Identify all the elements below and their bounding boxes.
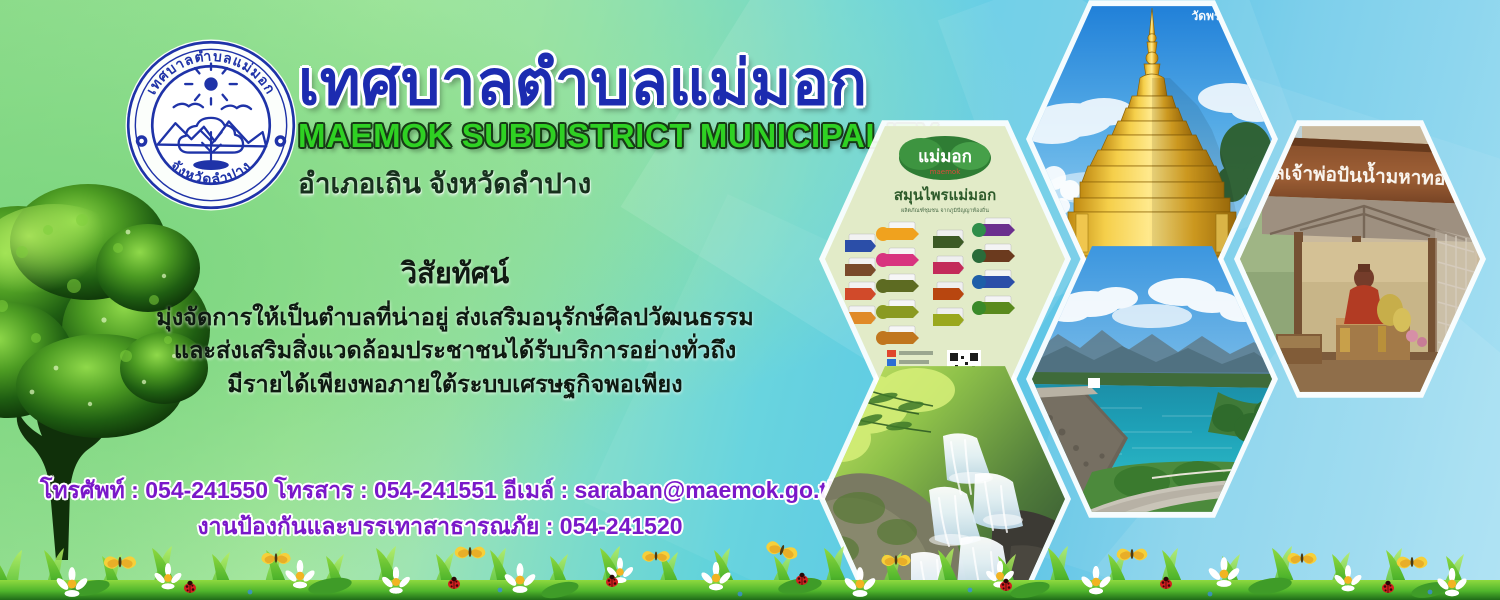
org-name-thai: เทศบาลตำบลแม่มอก [298,52,938,115]
seal-graphic: เทศบาลตำบลแม่มอก จังหวัดลำปาง [122,36,300,214]
location-subtitle: อำเภอเถิน จังหวัดลำปาง [298,162,938,206]
poster-caption: สมุนไพรแม่มอก [894,185,996,205]
pagoda-overlay-text: วัดพร [1192,9,1221,23]
municipality-banner: เทศบาลตำบลแม่มอก จังหวัดลำปาง เทศบาลตำบล… [0,0,1500,600]
grass-border [0,522,1500,600]
vision-statement: วิสัยทัศน์ มุ่งจัดการให้เป็นตำบลที่น่าอย… [60,250,850,401]
vision-line-2: และส่งเสริมสิ่งแวดล้อมประชาชนได้รับบริกา… [60,334,850,367]
poster-logo-text: แม่มอก [918,147,972,167]
hex-golden-pagoda[interactable]: วัดพร [1032,2,1272,276]
vision-heading: วิสัยทัศน์ [60,250,850,296]
municipality-seal: เทศบาลตำบลแม่มอก จังหวัดลำปาง [122,36,300,214]
title-block: เทศบาลตำบลแม่มอก MAEMOK SUBDISTRICT MUNI… [298,52,938,206]
hex-reservoir-dam[interactable] [1032,242,1272,516]
org-name-english: MAEMOK SUBDISTRICT MUNICIPALITY [298,117,938,155]
vision-line-3: มีรายได้เพียงพอภายใต้ระบบเศรษฐกิจพอเพียง [60,368,850,401]
svg-text:maemok: maemok [930,168,962,176]
vision-line-1: มุ่งจัดการให้เป็นตำบลที่น่าอยู่ ส่งเสริม… [60,301,850,334]
contact-line-primary[interactable]: โทรศัพท์ : 054-241550 โทรสาร : 054-24155… [40,474,840,507]
hex-shrine[interactable]: ศาลเจ้าพ่อปันน้ำมหาทองคำ [1240,122,1480,396]
poster-subtitle: ผลิตภัณฑ์ชุมชน จากภูมิปัญญาท้องถิ่น [901,206,989,214]
